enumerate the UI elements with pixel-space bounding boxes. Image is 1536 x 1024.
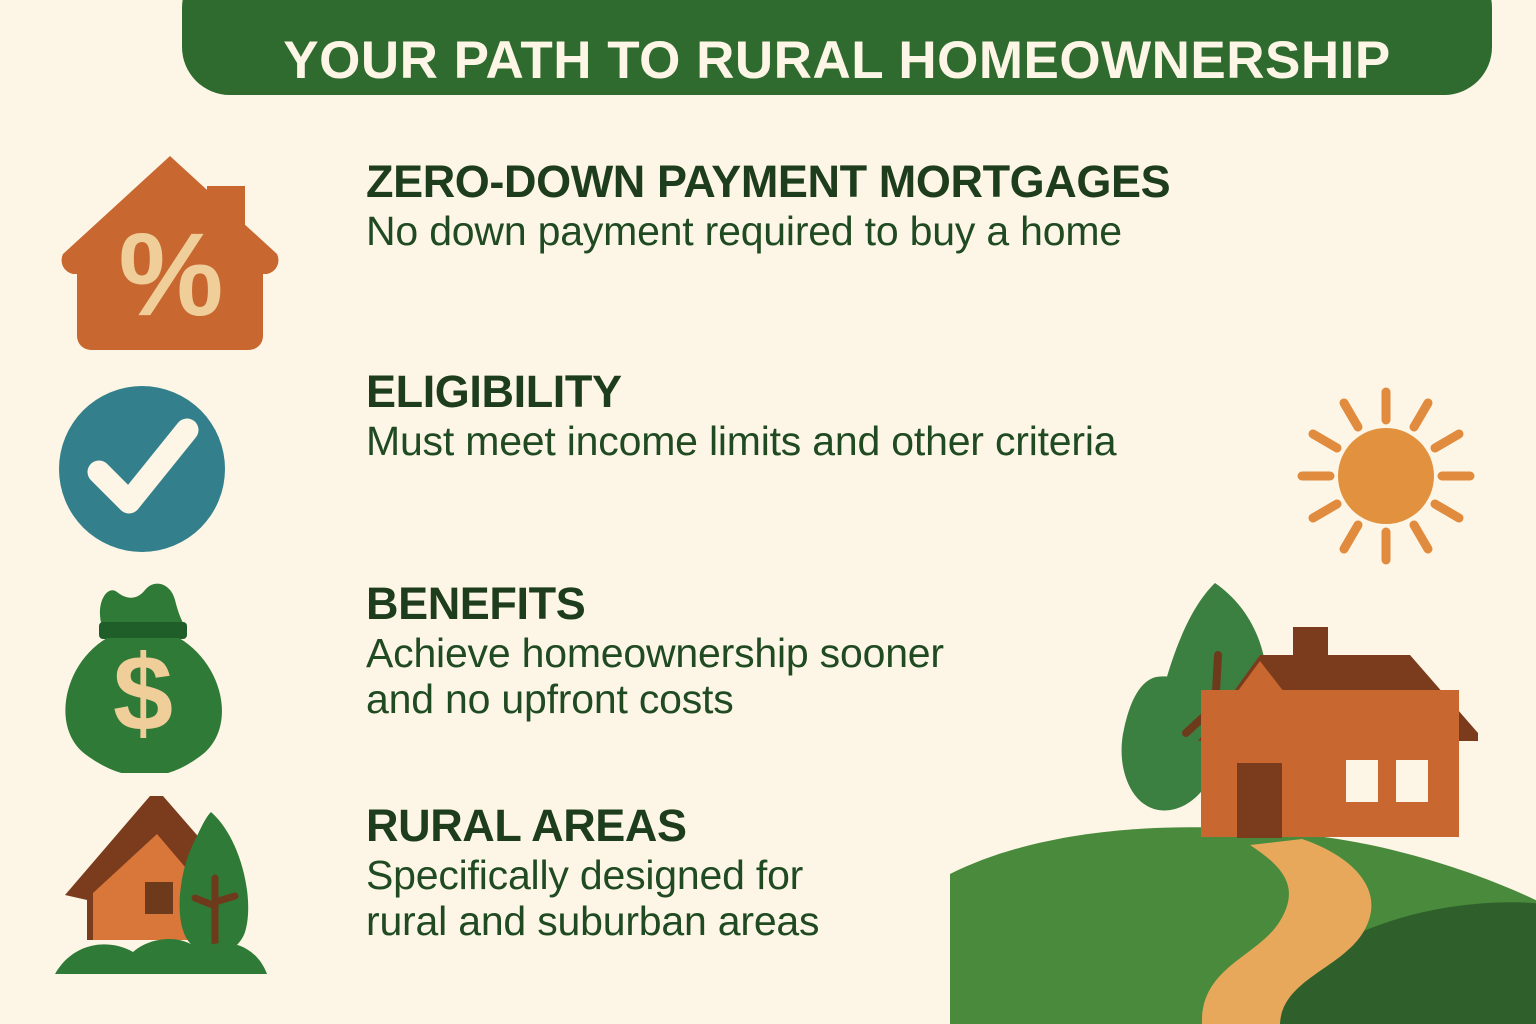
section-text-2: ELIGIBILITY Must meet income limits and … [366,368,1116,465]
window-right [1396,760,1428,802]
page-title: YOUR PATH TO RURAL HOMEOWNERSHIP [283,34,1390,87]
section-heading: ELIGIBILITY [366,368,1116,415]
section-heading: RURAL AREAS [366,802,819,849]
window-left [1346,760,1378,802]
svg-text:%: % [119,209,224,341]
door [1237,763,1282,838]
rural-house-tree-icon [55,790,295,1010]
svg-text:$: $ [113,632,173,753]
section-body: Achieve homeownership sooner and no upfr… [366,631,944,723]
rural-landscape-illustration [950,555,1536,1024]
section-body: No down payment required to buy a home [366,209,1170,255]
section-text-1: ZERO-DOWN PAYMENT MORTGAGES No down paym… [366,158,1170,255]
infographic-canvas: YOUR PATH TO RURAL HOMEOWNERSHIP [0,0,1536,1024]
house-percent-icon: % [55,150,295,370]
sun-illustration [1296,386,1476,571]
section-heading: BENEFITS [366,580,944,627]
section-heading: ZERO-DOWN PAYMENT MORTGAGES [366,158,1170,205]
money-bag-icon: $ [55,578,295,798]
section-text-4: RURAL AREAS Specifically designed for ru… [366,802,819,945]
section-body: Must meet income limits and other criter… [366,419,1116,465]
title-banner: YOUR PATH TO RURAL HOMEOWNERSHIP [182,0,1492,95]
check-circle-icon [55,382,295,602]
section-body: Specifically designed for rural and subu… [366,853,819,945]
section-text-3: BENEFITS Achieve homeownership sooner an… [366,580,944,723]
